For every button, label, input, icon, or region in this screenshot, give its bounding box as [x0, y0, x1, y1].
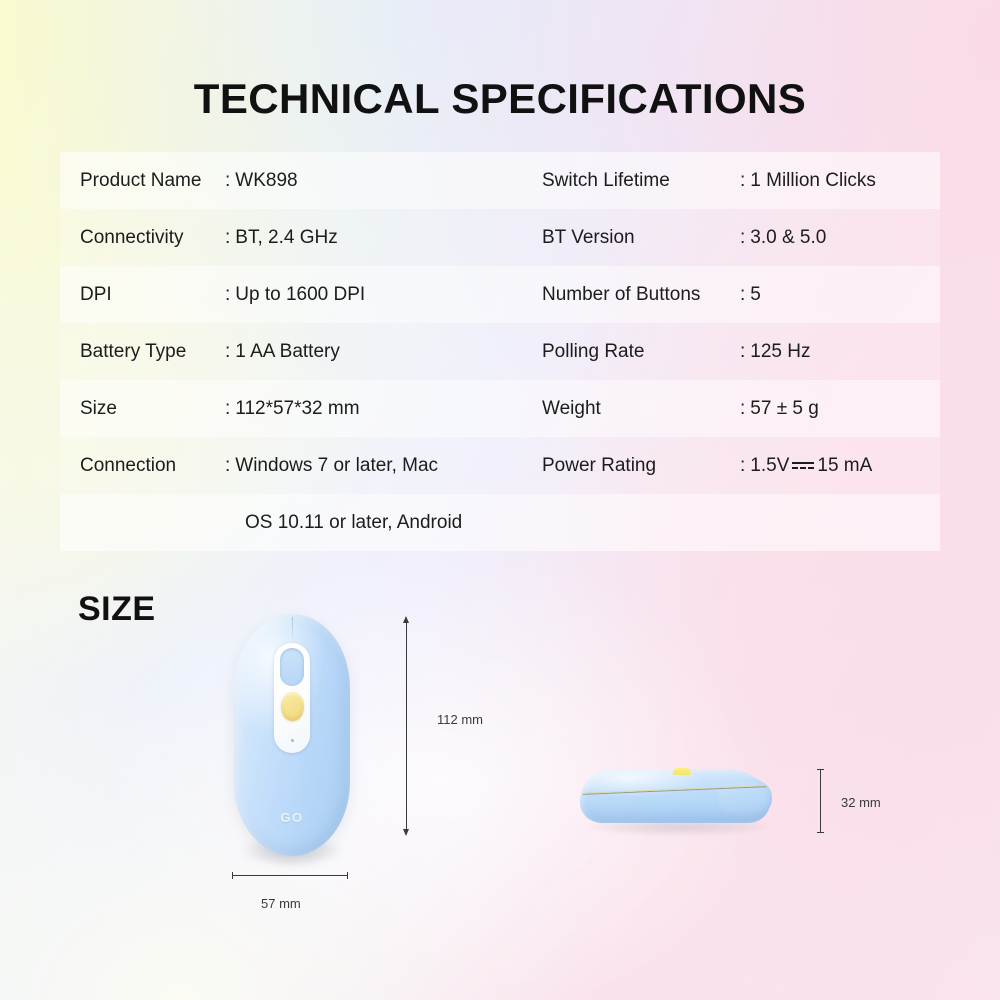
spec-value: :1 AA Battery: [225, 341, 530, 363]
arrow-down-icon: [403, 829, 409, 836]
spec-value: :3.0 & 5.0: [740, 227, 940, 249]
dimension-cap-right: [347, 872, 348, 879]
colon-separator: :: [740, 170, 745, 191]
table-cell-right: BT Version :3.0 & 5.0: [530, 209, 940, 266]
dimension-label: 32 mm: [841, 795, 881, 810]
colon-separator: :: [740, 284, 745, 305]
spec-value: :Windows 7 or later, Mac: [225, 455, 530, 477]
table-cell-right: Power Rating :1.5V15 mA: [530, 437, 940, 494]
spec-label: Battery Type: [60, 341, 225, 363]
colon-separator: :: [740, 398, 745, 419]
colon-separator: :: [740, 455, 745, 476]
table-cell-right: Weight :57 ± 5 g: [530, 380, 940, 437]
colon-separator: :: [225, 170, 230, 191]
spec-value: :125 Hz: [740, 341, 940, 363]
spec-label: Power Rating: [530, 455, 740, 477]
size-diagram: GO 112 mm 57 mm: [0, 580, 1000, 920]
spec-value-text: 3.0 & 5.0: [750, 227, 826, 248]
table-cell-left: Product Name :WK898: [60, 152, 530, 209]
spec-value-text: 125 Hz: [750, 341, 810, 362]
dimension-line-vertical: [820, 770, 821, 833]
spec-label: BT Version: [530, 227, 740, 249]
spec-label: Polling Rate: [530, 341, 740, 363]
colon-separator: :: [740, 227, 745, 248]
indicator-led-icon: [291, 739, 294, 742]
spec-value-text: 57 ± 5 g: [750, 398, 819, 419]
colon-separator: :: [225, 455, 230, 476]
table-cell-right: [530, 494, 940, 551]
table-row: Product Name :WK898 Switch Lifetime :1 M…: [60, 152, 940, 209]
table-cell-left: DPI :Up to 1600 DPI: [60, 266, 530, 323]
colon-separator: :: [225, 284, 230, 305]
table-row: Connectivity :BT, 2.4 GHz BT Version :3.…: [60, 209, 940, 266]
scroll-wheel-side: [673, 768, 691, 775]
spec-value-text: 1.5V: [750, 455, 789, 476]
table-row: Connection :Windows 7 or later, Mac Powe…: [60, 437, 940, 494]
table-cell-left: Battery Type :1 AA Battery: [60, 323, 530, 380]
spec-value: :112*57*32 mm: [225, 398, 530, 420]
page-title: TECHNICAL SPECIFICATIONS: [0, 78, 1000, 120]
spec-value-text: 1 AA Battery: [235, 341, 340, 362]
table-cell-right: Polling Rate :125 Hz: [530, 323, 940, 380]
table-cell-left: Size :112*57*32 mm: [60, 380, 530, 437]
table-cell-left: OS 10.11 or later, Android: [60, 494, 530, 551]
scroll-wheel-slot: [280, 648, 304, 686]
mouse-top-view: GO: [234, 614, 350, 856]
spec-value-continuation: OS 10.11 or later, Android: [60, 512, 530, 534]
spec-value: :WK898: [225, 170, 530, 192]
table-row: OS 10.11 or later, Android: [60, 494, 940, 551]
table-row: Size :112*57*32 mm Weight :57 ± 5 g: [60, 380, 940, 437]
spec-label: Weight: [530, 398, 740, 420]
spec-value: :1.5V15 mA: [740, 455, 940, 477]
colon-separator: :: [740, 341, 745, 362]
spec-label: DPI: [60, 284, 225, 306]
spec-label: Connectivity: [60, 227, 225, 249]
dimension-line-horizontal: [232, 875, 348, 876]
spec-value-text: Up to 1600 DPI: [235, 284, 365, 305]
mouse-side-view: [580, 763, 778, 835]
brand-logo: GO: [234, 810, 350, 825]
spec-value: :57 ± 5 g: [740, 398, 940, 420]
spec-value: :BT, 2.4 GHz: [225, 227, 530, 249]
spec-label: Product Name: [60, 170, 225, 192]
table-row: Battery Type :1 AA Battery Polling Rate …: [60, 323, 940, 380]
product-spec-page: TECHNICAL SPECIFICATIONS Product Name :W…: [0, 0, 1000, 1000]
table-cell-right: Switch Lifetime :1 Million Clicks: [530, 152, 940, 209]
colon-separator: :: [225, 398, 230, 419]
spec-value-text: 112*57*32 mm: [235, 398, 359, 419]
dimension-line-vertical: [406, 620, 407, 832]
spec-value: :Up to 1600 DPI: [225, 284, 530, 306]
spec-label: Size: [60, 398, 225, 420]
dimension-cap-bottom: [817, 832, 824, 833]
spec-value-text: 1 Million Clicks: [750, 170, 876, 191]
colon-separator: :: [225, 227, 230, 248]
spec-value-text: 15 mA: [817, 455, 872, 476]
spec-value-text: BT, 2.4 GHz: [235, 227, 337, 248]
table-cell-left: Connectivity :BT, 2.4 GHz: [60, 209, 530, 266]
specifications-table: Product Name :WK898 Switch Lifetime :1 M…: [60, 152, 940, 551]
spec-value-text: 5: [750, 284, 761, 305]
table-cell-left: Connection :Windows 7 or later, Mac: [60, 437, 530, 494]
table-row: DPI :Up to 1600 DPI Number of Buttons :5: [60, 266, 940, 323]
spec-label: Switch Lifetime: [530, 170, 740, 192]
spec-value-text: WK898: [235, 170, 297, 191]
spec-value: :5: [740, 284, 940, 306]
scroll-wheel: [281, 692, 304, 721]
spec-value-text: Windows 7 or later, Mac: [235, 455, 438, 476]
table-cell-right: Number of Buttons :5: [530, 266, 940, 323]
spec-label: Number of Buttons: [530, 284, 740, 306]
dimension-label: 57 mm: [261, 896, 301, 911]
spec-value: :1 Million Clicks: [740, 170, 940, 192]
direct-current-icon: [792, 459, 814, 473]
colon-separator: :: [225, 341, 230, 362]
mouse-button-seam: [292, 617, 293, 641]
spec-label: Connection: [60, 455, 225, 477]
dimension-label: 112 mm: [437, 712, 483, 727]
